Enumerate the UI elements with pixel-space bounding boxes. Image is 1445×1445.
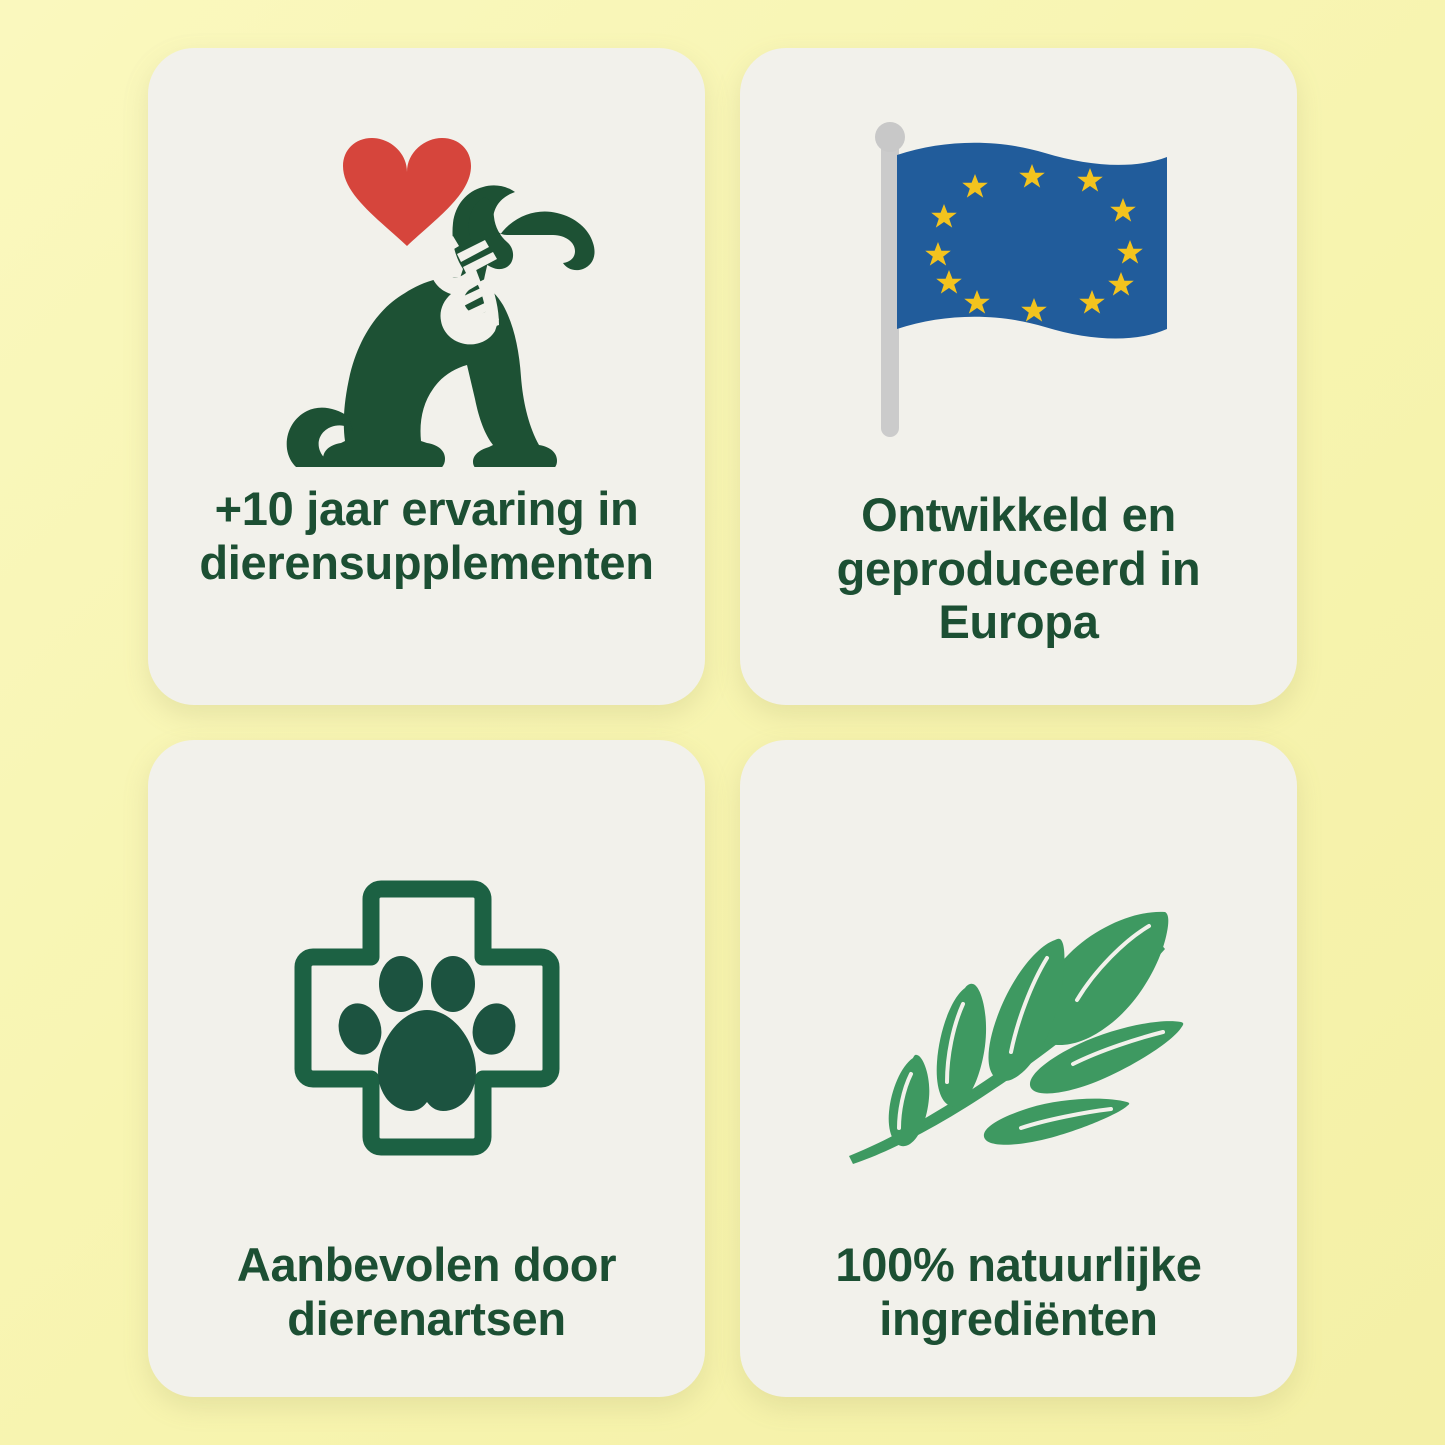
benefit-card-natural[interactable]: 100% natuurlijke ingrediënten [740,740,1297,1397]
benefit-caption-europe: Ontwikkeld en geproduceerd in Europa [740,488,1297,649]
benefit-caption-vets: Aanbevolen door dierenartsen [148,1238,705,1345]
benefit-card-grid: +10 jaar ervaring in dierensupplementen [148,48,1297,1397]
dog-with-heart-icon [237,97,617,467]
dog-silhouette [286,185,594,467]
benefit-card-europe[interactable]: Ontwikkeld en geproduceerd in Europa [740,48,1297,705]
icon-zone [740,740,1297,1210]
leaf-6 [888,1055,929,1146]
eu-flag-icon [849,113,1189,463]
icon-zone [148,740,705,1210]
vet-cross-paw-icon [277,873,577,1163]
leaf-5 [983,1099,1128,1145]
icon-zone [740,48,1297,488]
benefit-caption-experience: +10 jaar ervaring in dierensupplementen [148,482,705,589]
paw-print-icon [332,956,521,1111]
benefit-card-vets[interactable]: Aanbevolen door dierenartsen [148,740,705,1397]
icon-zone [148,48,705,478]
benefit-card-experience[interactable]: +10 jaar ervaring in dierensupplementen [148,48,705,705]
leaf-branch-icon [829,836,1209,1176]
heart-icon [343,138,471,246]
benefits-panel: +10 jaar ervaring in dierensupplementen [0,0,1445,1445]
benefit-caption-natural: 100% natuurlijke ingrediënten [740,1238,1297,1345]
